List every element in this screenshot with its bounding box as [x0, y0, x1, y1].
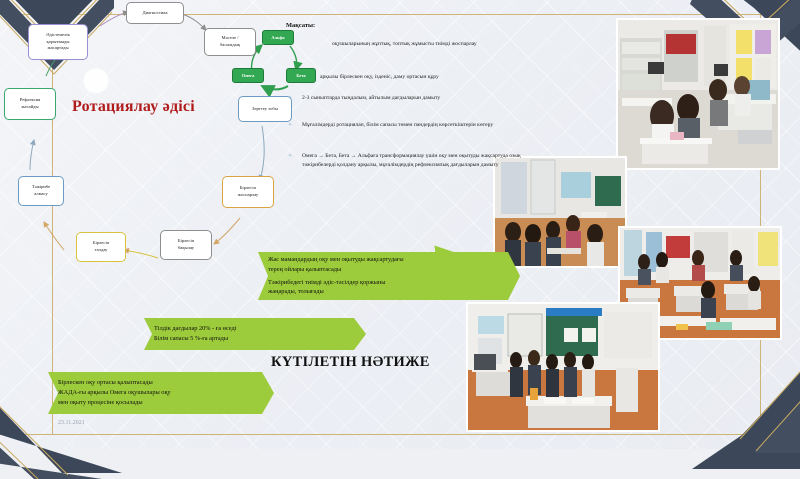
flow-node-problem[interactable]: Мәселе / басымдық [204, 28, 256, 56]
banner-green-line-4: жаңарады, толығады [268, 287, 404, 297]
banner-green-line-1: Жас мамандардың оқу мен оқытуды жақсарту… [268, 255, 404, 265]
gold-rule-left [52, 14, 53, 434]
slide-canvas: Әдістемелік қорытынды жасартады Диагност… [0, 0, 800, 449]
goal-item-1: оқушыларының жұптық, топтық жұмысты тиім… [332, 40, 562, 49]
banner-yellow: Тілдік дағдылар 20% - ға өседі Білім сап… [144, 318, 366, 350]
goal-item-3: 2-3 сыныптарда тыңдалым, айтылым дағдыла… [302, 94, 552, 103]
photo-lesson-standing [495, 158, 625, 266]
goals-heading: Мақсаты: [286, 22, 315, 29]
banner-green-line-3: Тәжірибедегі тиімді әдіс-тәсілдер қоржын… [268, 278, 404, 288]
banner-blue-line-3: мен оқыту процесіне қосылады [58, 398, 171, 408]
flow-node-diagnostika[interactable]: Диагностика [126, 2, 184, 24]
flow-node-reflection[interactable]: Рефлексия жасайды [4, 88, 56, 120]
goal-item-5: Омега → Бета, Бета → Альфаға трансформац… [302, 152, 524, 169]
flow-node-joint-analyze[interactable]: Бірлесіп талдау [76, 232, 126, 262]
flow-node-methodical[interactable]: Әдістемелік қорытынды жасартады [28, 24, 88, 60]
gold-rule-top [0, 14, 800, 15]
greek-node-alpha[interactable]: Альфа [262, 30, 294, 45]
greek-node-beta[interactable]: Бета [286, 68, 316, 83]
goal-item-2: арқылы бірлескен оқу, ізденіс, даму орта… [320, 73, 560, 82]
banner-green-line-2: терең ойлары қалыптасады [268, 265, 404, 275]
photo-computer-lab [618, 20, 778, 168]
gold-rule-bottom [0, 434, 800, 435]
bullet-icon-3: ✧ [288, 153, 292, 159]
banner-green: Жас мамандардың оқу мен оқытуды жақсарту… [258, 252, 520, 300]
flow-node-research-team[interactable]: Зерттеу тобы [238, 96, 292, 122]
banner-blue-line-2: ЖАДА-ғы арқылы Омега оқушылары оқу [58, 388, 171, 398]
page-title: Ротациялау әдісі [72, 98, 195, 116]
greek-node-omega[interactable]: Омега [232, 68, 264, 83]
banner-blue: Бірлескен оқу ортасы қалыптасады ЖАДА-ғы… [48, 372, 274, 414]
flow-node-experience[interactable]: Тәжірибе алмасу [18, 176, 64, 206]
bullet-icon-1: ✧ [288, 95, 292, 101]
bullet-icon-2: ✧ [288, 122, 292, 128]
date-stamp: 23.11.2021 [58, 420, 85, 426]
photo-board-lesson [468, 304, 658, 430]
corner-chevron-bottomright [682, 349, 800, 469]
banner-yellow-line-2: Білім сапасы 5 %-ға артады [154, 334, 236, 344]
banner-blue-line-1: Бірлескен оқу ортасы қалыптасады [58, 378, 171, 388]
banner-yellow-line-1: Тілдік дағдылар 20% - ға өседі [154, 324, 236, 334]
result-title: КҮТІЛЕТІН НӘТИЖЕ [271, 354, 430, 371]
flow-node-joint-observe[interactable]: Бірлесіп бақылау [160, 230, 212, 260]
flow-node-joint-plan[interactable]: Бірлесіп жоспарлау [222, 176, 274, 208]
goal-item-4: Мұғалімдерді ротациялап, білім сапасы тө… [302, 121, 526, 130]
